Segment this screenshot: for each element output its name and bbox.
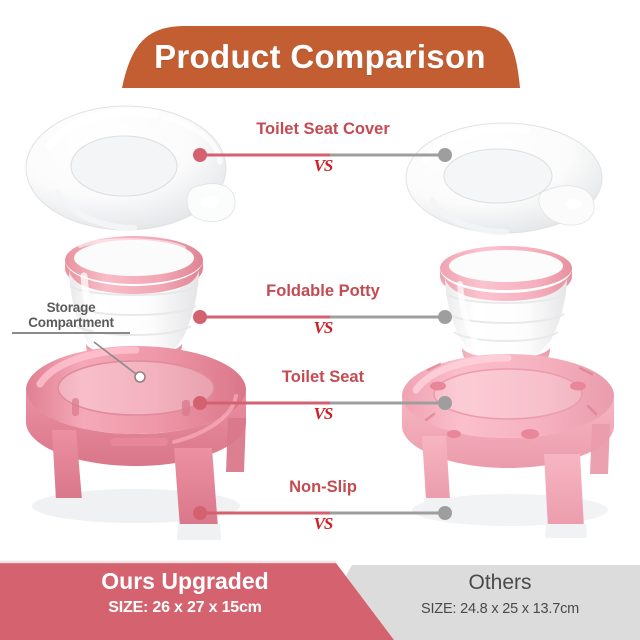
product-image-others [392, 118, 632, 538]
right-dot [438, 148, 452, 162]
others-size: SIZE: 24.8 x 25 x 13.7cm [372, 598, 628, 620]
callout-line-1: Storage [12, 300, 130, 315]
accent-dot [430, 382, 446, 391]
comparison-row-2: Toilet Seat VS [228, 368, 418, 430]
storage-compartment-callout: Storage Compartment [12, 300, 130, 334]
comparison-row-1: Foldable Potty VS [228, 282, 418, 344]
right-dot [438, 310, 452, 324]
left-dot [193, 148, 207, 162]
page-title: Product Comparison [0, 26, 640, 88]
vs-label-2: VS [228, 404, 418, 424]
ours-size: SIZE: 26 x 27 x 15cm [30, 596, 340, 620]
ours-text-block: Ours Upgraded SIZE: 26 x 27 x 15cm [30, 566, 340, 620]
right-dot [438, 506, 452, 520]
comparison-label-0: Toilet Seat Cover [228, 120, 418, 139]
others-title: Others [372, 568, 628, 598]
accent-dot [521, 429, 539, 439]
toilet-seat-cover-ours [26, 106, 235, 230]
comparison-label-3: Non-Slip [228, 478, 418, 497]
comparison-label-2: Toilet Seat [228, 368, 418, 387]
vs-label-3: VS [228, 514, 418, 534]
vs-label-1: VS [228, 318, 418, 338]
comparison-row-0: Toilet Seat Cover VS [228, 120, 418, 182]
right-dot [438, 396, 452, 410]
vs-label-0: VS [228, 156, 418, 176]
infographic-canvas: Product Comparison [0, 0, 640, 640]
callout-leader-line [92, 340, 152, 386]
toilet-seat-cover-others [406, 123, 602, 233]
left-dot [193, 506, 207, 520]
callout-line-2: Compartment [12, 315, 130, 330]
left-dot [193, 310, 207, 324]
accent-dot [447, 430, 461, 438]
comparison-label-1: Foldable Potty [228, 282, 418, 301]
others-text-block: Others SIZE: 24.8 x 25 x 13.7cm [372, 568, 628, 620]
bottom-banner: Ours Upgraded SIZE: 26 x 27 x 15cm Other… [0, 556, 640, 640]
ours-title: Ours Upgraded [30, 566, 340, 596]
left-dot [193, 396, 207, 410]
accent-dot [570, 382, 586, 391]
callout-underline [12, 332, 130, 334]
comparison-row-3: Non-Slip VS [228, 478, 418, 540]
header-banner: Product Comparison [0, 26, 640, 88]
